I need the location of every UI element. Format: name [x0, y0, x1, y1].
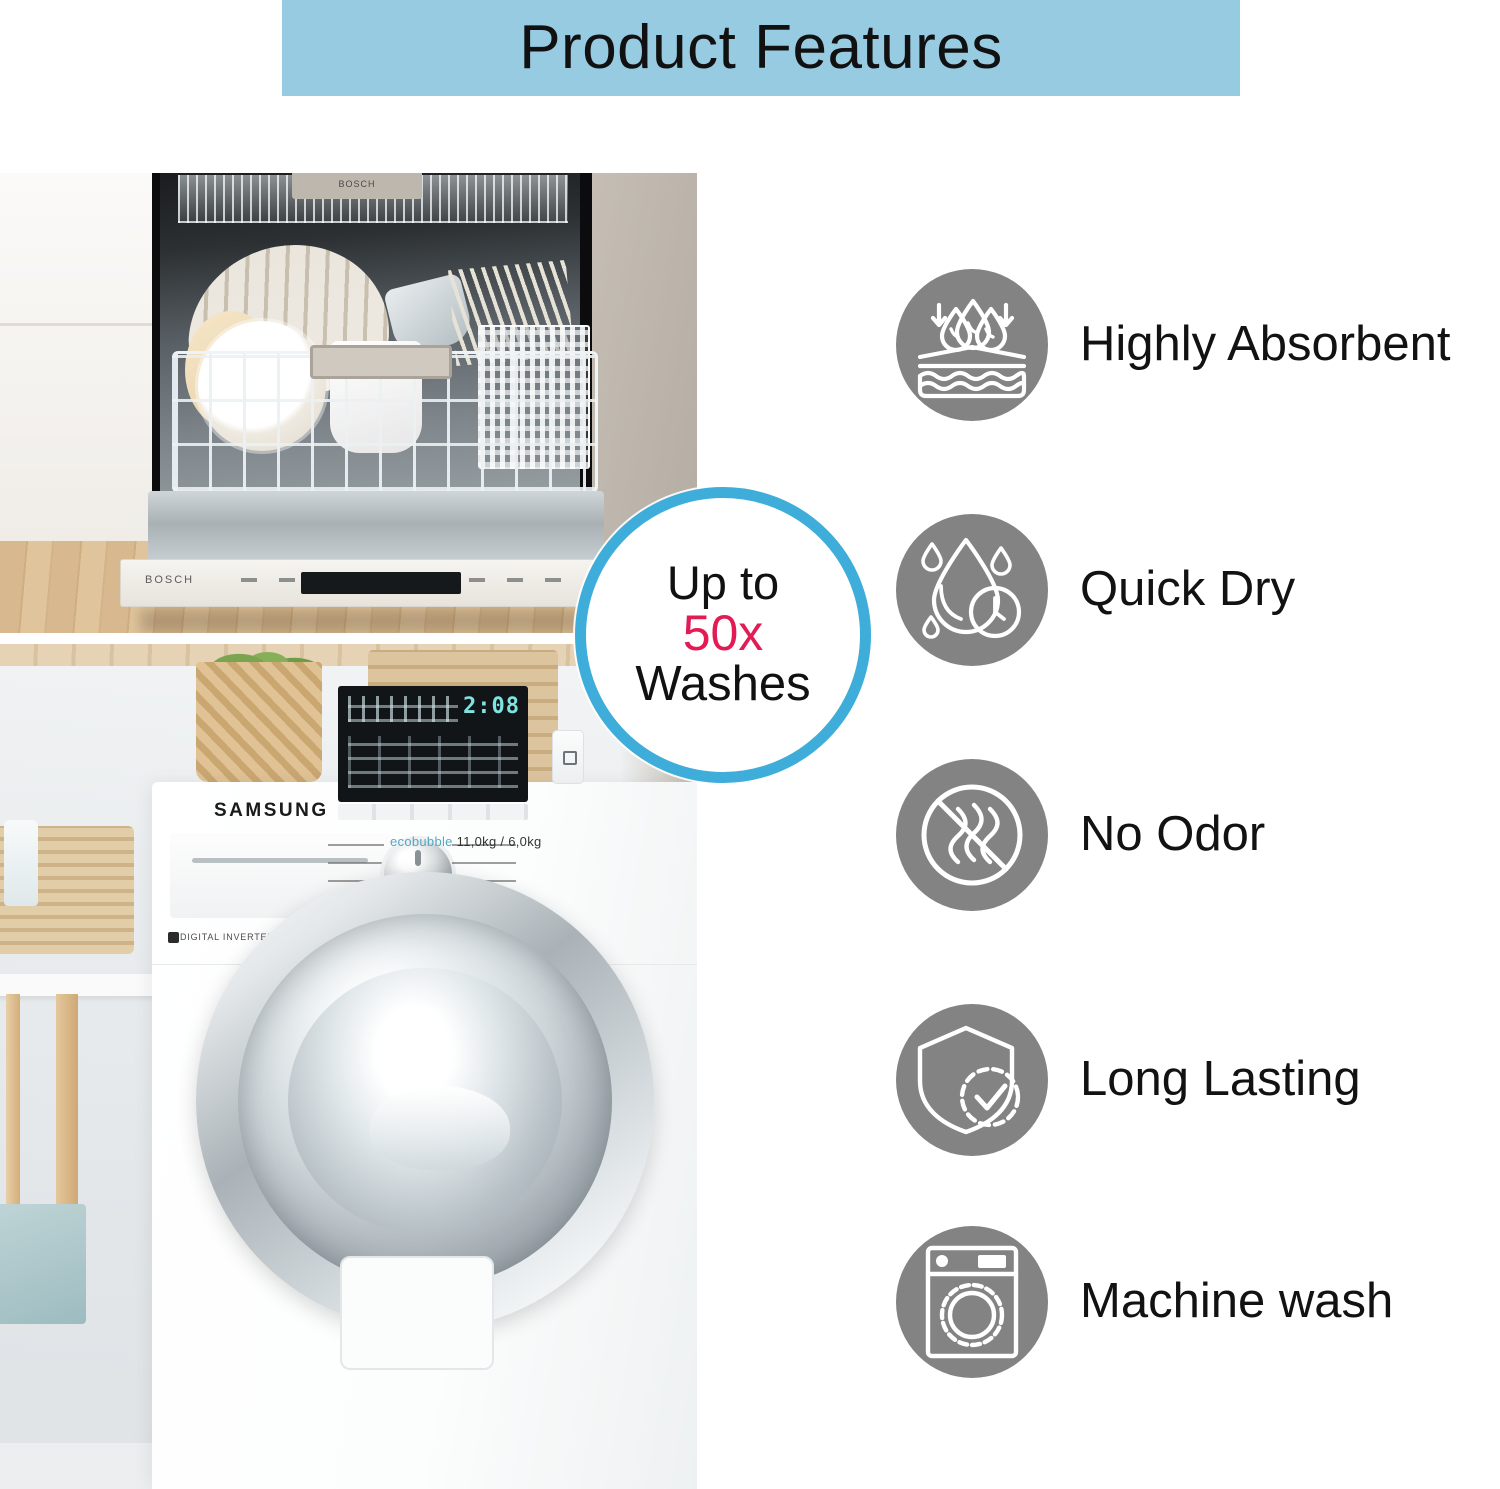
kitchen-cabinet: [0, 173, 162, 591]
laundry-floor: [0, 1443, 152, 1489]
washer-drum: [288, 968, 562, 1234]
absorbent-droplets-icon: [896, 269, 1048, 421]
feature-label-quick-dry: Quick Dry: [1080, 564, 1295, 615]
washer-filter-hatch: [340, 1256, 494, 1370]
dishwasher-brand-plate: BOSCH: [292, 173, 422, 199]
header-banner: Product Features: [282, 0, 1240, 96]
dishwasher-brand-text: BOSCH: [338, 179, 375, 189]
washer-door-glass: [238, 914, 612, 1288]
badge-line-2: 50x: [683, 607, 764, 659]
feature-label-no-odor: No Odor: [1080, 809, 1265, 860]
shield-check-icon: [896, 1004, 1048, 1156]
ecobubble-text: ecobubble: [390, 834, 453, 849]
page-title: Product Features: [519, 17, 1003, 79]
feature-row-quick-dry: Quick Dry: [896, 467, 1500, 712]
badge-line-1: Up to: [667, 559, 779, 608]
drum-highlight: [370, 1086, 510, 1170]
washing-machine-icon: [896, 1226, 1048, 1378]
feature-row-no-odor: No Odor: [896, 712, 1500, 957]
digital-inverter-icon: [168, 932, 179, 943]
feature-row-machine-wash: Machine wash: [896, 1202, 1500, 1402]
detergent-bottle: [4, 820, 38, 906]
feature-label-long-lasting: Long Lasting: [1080, 1054, 1361, 1105]
no-odor-prohibited-icon: [896, 759, 1048, 911]
dishwasher-open-door: [148, 491, 604, 569]
display-indicator-leds: [348, 696, 458, 722]
dishwasher-control-panel: BOSCH: [120, 559, 622, 607]
rack-handle-tag: [310, 345, 452, 379]
washer-capacity-label: ecobubble 11,0kg / 6,0kg: [390, 834, 542, 849]
washer-time-display: 2:08: [463, 694, 520, 719]
washer-power-button: [552, 730, 584, 784]
door-shadow: [140, 609, 610, 633]
washing-machine-photo: SAMSUNG DIGITAL INVERTER 2:08 ecobubble …: [0, 644, 697, 1489]
display-option-rows: [348, 736, 518, 788]
feature-list: Highly Absorbent Quick Dry: [896, 222, 1500, 1402]
washer-control-display: 2:08: [338, 686, 528, 802]
feature-label-highly-absorbent: Highly Absorbent: [1080, 319, 1450, 370]
woven-planter: [196, 662, 322, 782]
infographic-canvas: Product Features BOSCH BOSCH: [0, 0, 1500, 1489]
folded-towel: [0, 1204, 86, 1324]
badge-line-3: Washes: [635, 659, 810, 711]
washes-badge: Up to 50x Washes: [575, 487, 871, 783]
feature-row-long-lasting: Long Lasting: [896, 957, 1500, 1202]
quick-dry-droplet-clock-icon: [896, 514, 1048, 666]
washer-brand-text: SAMSUNG: [214, 800, 329, 822]
feature-label-machine-wash: Machine wash: [1080, 1276, 1393, 1327]
dishwasher-panel-brand: BOSCH: [145, 574, 194, 586]
washer-option-buttons: [338, 804, 528, 820]
feature-row-highly-absorbent: Highly Absorbent: [896, 222, 1500, 467]
capacity-value-text: 11,0kg / 6,0kg: [457, 834, 542, 849]
dishwasher-display: [301, 572, 461, 594]
